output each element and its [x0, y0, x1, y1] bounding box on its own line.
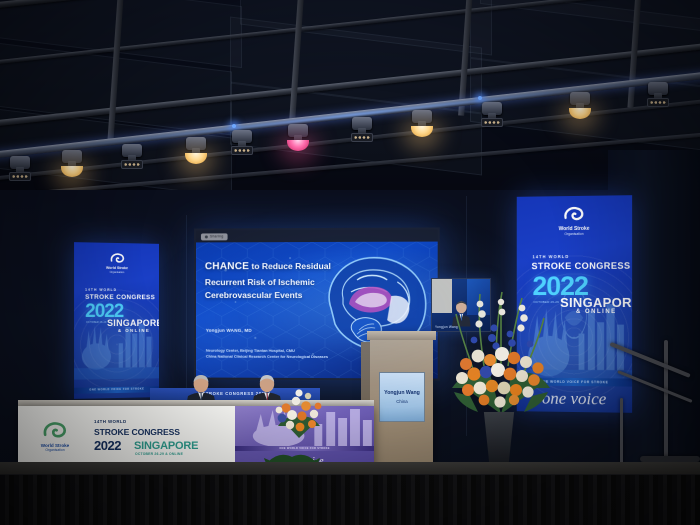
- slide-title-keyword: CHANCE: [205, 261, 249, 272]
- stage-light: [352, 117, 372, 130]
- wso-subname: Organisation: [74, 270, 159, 274]
- stage-skirt: [0, 474, 700, 525]
- stage-light: [648, 82, 668, 95]
- table-banner-year: 2022: [94, 439, 121, 452]
- slide-affiliation: Neurology Center, Beijing Tiantan Hospit…: [206, 348, 355, 360]
- share-dot-icon: [205, 235, 208, 238]
- banner-left-prefix: 14TH WORLD: [85, 288, 117, 292]
- stage-light: [122, 144, 142, 157]
- wso-swirl-icon: [41, 420, 69, 443]
- banner-right-congress: STROKE CONGRESS: [531, 261, 630, 272]
- stage-light: [232, 130, 252, 143]
- slide-affiliation-line2: China National Clinical Research Center …: [206, 354, 328, 359]
- banner-left-city: SINGAPORE: [107, 318, 159, 328]
- stage-light: [186, 137, 206, 150]
- wso-logo: World Stroke Organisation: [74, 251, 159, 274]
- lectern-speaker-name: Yongjun Wang: [384, 390, 420, 396]
- stage-light: [62, 150, 82, 163]
- screen-share-indicator[interactable]: Sharing: [201, 233, 227, 240]
- slide-title-line3: Cerebrovascular Events: [205, 290, 303, 300]
- table-banner-congress: STROKE CONGRESS: [94, 427, 180, 437]
- handrail-post: [664, 340, 668, 468]
- banner-left: World Stroke Organisation 14TH WORLD STR…: [74, 242, 159, 399]
- banner-left-online: & ONLINE: [118, 328, 150, 333]
- wso-swirl-icon: [562, 205, 586, 225]
- handrail-post-lower: [620, 398, 623, 466]
- slide-affiliation-line1: Neurology Center, Beijing Tiantan Hospit…: [206, 348, 295, 353]
- lectern-country: China: [396, 399, 407, 404]
- table-banner-prefix: 14TH WORLD: [94, 419, 127, 424]
- stage-light: [412, 110, 432, 123]
- banner-left-date: OCTOBER 26-29: [86, 322, 106, 324]
- slide-title-line1-rest: to Reduce Residual: [249, 261, 331, 271]
- ceiling: [0, 0, 700, 215]
- wso-subname: Organisation: [517, 232, 632, 237]
- slide-title-line2: Recurrent Risk of Ischemic: [205, 277, 315, 287]
- slide-author: Yongjun WANG, MD: [206, 328, 252, 333]
- stage-light: [10, 156, 30, 169]
- stage-light: [288, 124, 308, 137]
- banner-right-prefix: 14TH WORLD: [532, 254, 569, 259]
- lectern: Yongjun Wang China: [370, 336, 433, 478]
- flower-arrangement-large: [444, 288, 558, 428]
- stage-light: [482, 102, 502, 115]
- screen-toolbar: Sharing: [196, 229, 438, 242]
- wso-logo: World Stroke Organisation: [32, 420, 78, 452]
- stage-light: [570, 92, 590, 105]
- table-banner-date: OCTOBER 26-29 & ONLINE: [135, 452, 183, 456]
- banner-right-city: SINGAPORE: [560, 295, 632, 310]
- banner-right-online: & ONLINE: [576, 309, 617, 315]
- conference-stage-photo: World Stroke Organisation 14TH WORLD STR…: [0, 0, 700, 525]
- banner-left-strip: ONE WORLD VOICE FOR STROKE: [74, 386, 159, 394]
- slide-title: CHANCE to Reduce Residual Recurrent Risk…: [205, 259, 334, 303]
- flower-arrangement-small: [272, 382, 326, 438]
- wso-logo: World Stroke Organisation: [517, 204, 632, 237]
- wso-subname: Organisation: [32, 448, 78, 452]
- wso-swirl-icon: [109, 252, 126, 266]
- lectern-confidence-monitor: Yongjun Wang China: [379, 372, 425, 422]
- table-banner-city: SINGAPORE: [134, 440, 198, 452]
- share-label: Sharing: [210, 233, 224, 240]
